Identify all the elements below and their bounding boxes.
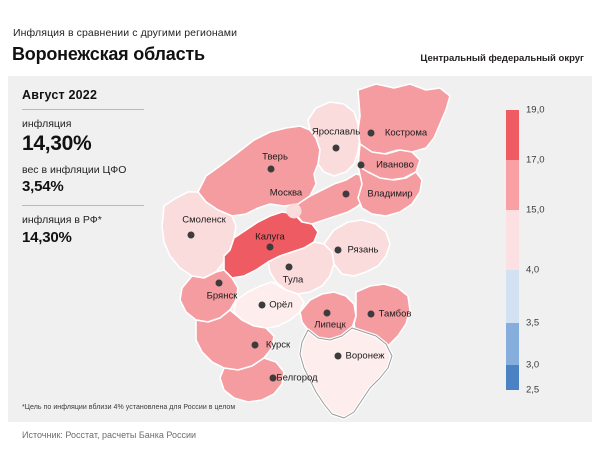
header-subtitle: Инфляция в сравнении с другими регионами — [13, 27, 237, 39]
source-text: Источник: Росстат, расчеты Банка России — [22, 430, 196, 440]
legend-band-4 — [506, 323, 519, 365]
weight-value: 3,54% — [22, 178, 172, 196]
legend-tick-4: 3,5 — [526, 318, 539, 329]
city-dot-Тверь — [268, 166, 275, 173]
rf-inflation-label: инфляция в РФ* — [22, 214, 172, 227]
city-dot-Курск — [252, 342, 259, 349]
legend-tick-2: 15,0 — [526, 205, 545, 216]
inflation-label: инфляция — [22, 118, 172, 131]
legend-tick-1: 17,0 — [526, 155, 545, 166]
federal-district-label: Центральный федеральный округ — [420, 53, 584, 64]
city-circle-moscow — [287, 204, 302, 219]
rf-inflation-value: 14,30% — [22, 229, 172, 247]
city-dot-Брянск — [216, 280, 223, 287]
color-scale-legend: 19,017,015,04,03,53,02,5 — [506, 110, 519, 390]
legend-band-0 — [506, 110, 519, 160]
legend-band-3 — [506, 270, 519, 323]
legend-tick-3: 4,0 — [526, 265, 539, 276]
legend-band-2 — [506, 210, 519, 270]
city-dot-Ярославль — [333, 145, 340, 152]
city-dot-Иваново — [358, 162, 365, 169]
period-label: Август 2022 — [22, 88, 172, 109]
map-region-Кострома[interactable] — [358, 84, 450, 154]
legend-tick-0: 19,0 — [526, 105, 545, 116]
map-region-Воронеж[interactable] — [300, 328, 392, 418]
legend-band-5 — [506, 365, 519, 390]
weight-label: вес в инфляции ЦФО — [22, 164, 172, 177]
city-dot-Тула — [286, 264, 293, 271]
infographic-canvas: Инфляция в сравнении с другими регионами… — [0, 0, 600, 450]
divider-bottom — [22, 205, 144, 206]
legend-tick-6: 2,5 — [526, 385, 539, 396]
city-dot-Воронеж — [335, 353, 342, 360]
map-svg — [158, 80, 503, 420]
stats-panel: Август 2022 инфляция 14,30% вес в инфляц… — [22, 88, 172, 247]
city-dot-Владимир — [343, 191, 350, 198]
legend-tick-5: 3,0 — [526, 360, 539, 371]
choropleth-map: ЯрославльКостромаТверьИвановоМоскваВлади… — [158, 80, 503, 420]
city-dot-Калуга — [267, 244, 274, 251]
city-dot-Липецк — [324, 310, 331, 317]
city-dot-Кострома — [368, 130, 375, 137]
city-dot-Белгород — [270, 375, 277, 382]
city-dot-Смоленск — [188, 232, 195, 239]
page-title: Воронежская область — [12, 44, 205, 65]
city-dot-Тамбов — [368, 311, 375, 318]
legend-band-1 — [506, 160, 519, 210]
divider-top — [22, 109, 144, 110]
inflation-value: 14,30% — [22, 132, 172, 156]
city-dot-Орёл — [259, 302, 266, 309]
city-dot-Рязань — [335, 247, 342, 254]
